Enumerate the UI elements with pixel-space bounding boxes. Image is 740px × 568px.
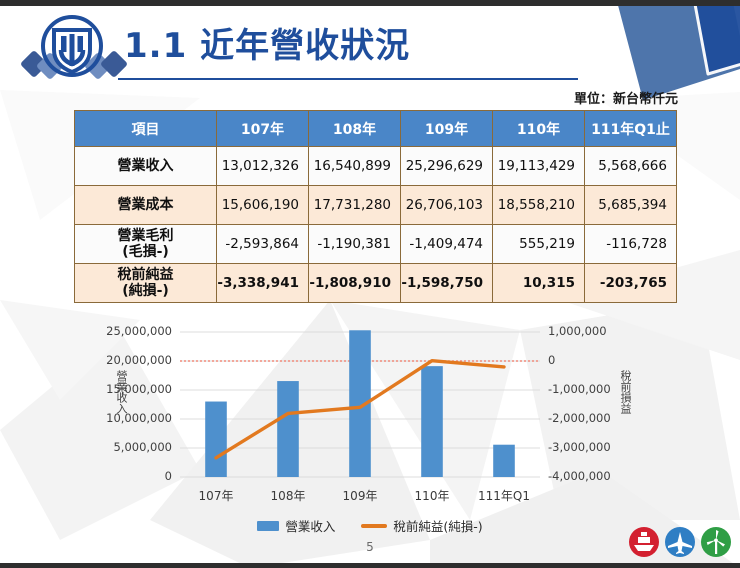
chart-bar <box>421 366 443 477</box>
chart-y2-tick-label: 1,000,000 <box>548 324 607 338</box>
table-cell: 5,685,394 <box>585 186 677 225</box>
table-cell: 19,113,429 <box>493 147 585 186</box>
legend-bar-swatch-icon <box>257 521 279 531</box>
chart-x-tick-label: 110年 <box>392 487 472 504</box>
chart-y-tick-label: 25,000,000 <box>60 324 172 338</box>
table-row-label: 營業毛利(毛損-) <box>75 225 217 264</box>
footer-badges <box>628 526 732 558</box>
shield-trident-emblem-icon <box>40 12 104 80</box>
table-row-label: 營業收入 <box>75 147 217 186</box>
title-underline <box>118 78 578 80</box>
table-row: 營業毛利(毛損-)-2,593,864-1,190,381-1,409,4745… <box>75 225 677 264</box>
chart-bar <box>493 445 515 477</box>
slide: 1.1 近年營收狀況 單位：新台幣仟元 項目 107年 108年 109年 11… <box>0 0 740 568</box>
table-row: 營業成本15,606,19017,731,28026,706,10318,558… <box>75 186 677 225</box>
table-header-cell: 項目 <box>75 111 217 147</box>
table-cell: 16,540,899 <box>309 147 401 186</box>
chart-bar <box>277 381 299 477</box>
chart-y-tick-label: 20,000,000 <box>60 353 172 367</box>
chart-y2-tick-label: -2,000,000 <box>548 411 611 425</box>
table-header-row: 項目 107年 108年 109年 110年 111年Q1止 <box>75 111 677 147</box>
chart-y2-tick-label: 0 <box>548 353 555 367</box>
chart-y2-tick-label: -1,000,000 <box>548 382 611 396</box>
table-header-cell: 110年 <box>493 111 585 147</box>
table-cell: 17,731,280 <box>309 186 401 225</box>
table-cell: 5,568,666 <box>585 147 677 186</box>
org-logo <box>22 12 118 84</box>
financial-table: 項目 107年 108年 109年 110年 111年Q1止 營業收入13,01… <box>74 110 676 303</box>
table-row: 稅前純益(純損-)-3,338,941-1,808,910-1,598,7501… <box>75 264 677 303</box>
table-cell: 10,315 <box>493 264 585 303</box>
table-cell: -2,593,864 <box>217 225 309 264</box>
bottom-rail <box>0 563 740 568</box>
top-rail <box>0 0 740 6</box>
chart-y-tick-label: 0 <box>60 469 172 483</box>
table-cell: 26,706,103 <box>401 186 493 225</box>
slide-header: 1.1 近年營收狀況 <box>0 6 740 92</box>
chart-y-tick-label: 5,000,000 <box>60 440 172 454</box>
ship-badge-icon <box>628 526 660 558</box>
table-body: 營業收入13,012,32616,540,89925,296,62919,113… <box>75 147 677 303</box>
chart-x-tick-label: 111年Q1 <box>464 487 544 504</box>
unit-note: 單位：新台幣仟元 <box>574 88 678 107</box>
table-cell: -116,728 <box>585 225 677 264</box>
table-cell: 15,606,190 <box>217 186 309 225</box>
legend-item-line: 稅前純益(純損-) <box>361 516 482 535</box>
chart-bar <box>205 402 227 477</box>
table-row-label: 營業成本 <box>75 186 217 225</box>
revenue-chart: 營業收入 稅前損益 05,000,00010,000,00015,000,000… <box>0 318 740 518</box>
chart-y-tick-label: 10,000,000 <box>60 411 172 425</box>
chart-y2-tick-label: -3,000,000 <box>548 440 611 454</box>
table-row: 營業收入13,012,32616,540,89925,296,62919,113… <box>75 147 677 186</box>
table-cell: 555,219 <box>493 225 585 264</box>
page-title: 1.1 近年營收狀況 <box>124 18 410 67</box>
table-cell: 13,012,326 <box>217 147 309 186</box>
chart-y2-axis-label: 稅前損益 <box>620 370 631 414</box>
table-header-cell: 109年 <box>401 111 493 147</box>
table-row-label: 稅前純益(純損-) <box>75 264 217 303</box>
table-header-cell: 108年 <box>309 111 401 147</box>
table-cell: 18,558,210 <box>493 186 585 225</box>
table-cell: 25,296,629 <box>401 147 493 186</box>
wind-turbine-badge-icon <box>700 526 732 558</box>
chart-x-tick-label: 107年 <box>176 487 256 504</box>
legend-line-label: 稅前純益(純損-) <box>393 516 482 535</box>
chart-x-tick-label: 108年 <box>248 487 328 504</box>
table-cell: -203,765 <box>585 264 677 303</box>
legend-bar-label: 營業收入 <box>285 516 335 535</box>
table-cell: -1,808,910 <box>309 264 401 303</box>
chart-y2-tick-label: -4,000,000 <box>548 469 611 483</box>
chart-y-tick-label: 15,000,000 <box>60 382 172 396</box>
legend-item-bar: 營業收入 <box>257 516 335 535</box>
table-cell: -3,338,941 <box>217 264 309 303</box>
chart-x-tick-label: 109年 <box>320 487 400 504</box>
table-header-cell: 111年Q1止 <box>585 111 677 147</box>
table-cell: -1,409,474 <box>401 225 493 264</box>
table-header-cell: 107年 <box>217 111 309 147</box>
table-cell: -1,190,381 <box>309 225 401 264</box>
legend-line-swatch-icon <box>361 524 387 528</box>
table-cell: -1,598,750 <box>401 264 493 303</box>
airplane-badge-icon <box>664 526 696 558</box>
